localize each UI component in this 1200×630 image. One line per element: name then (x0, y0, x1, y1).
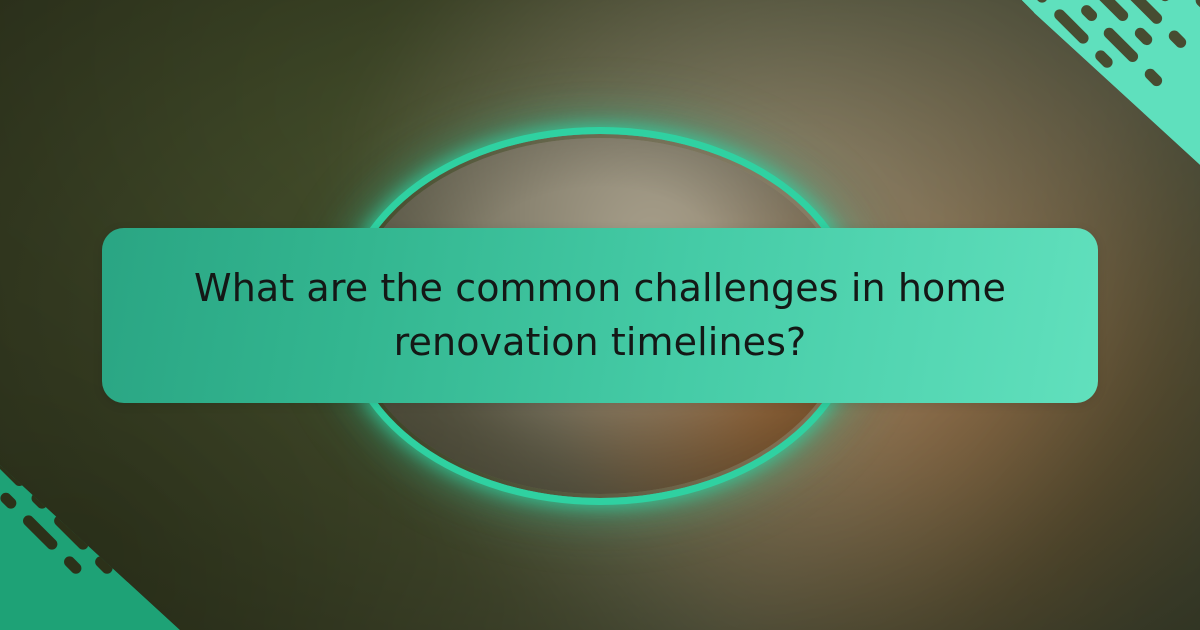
headline-text: What are the common challenges in home r… (172, 262, 1029, 370)
headline-banner: What are the common challenges in home r… (102, 228, 1098, 403)
share-card-canvas: What are the common challenges in home r… (0, 0, 1200, 630)
